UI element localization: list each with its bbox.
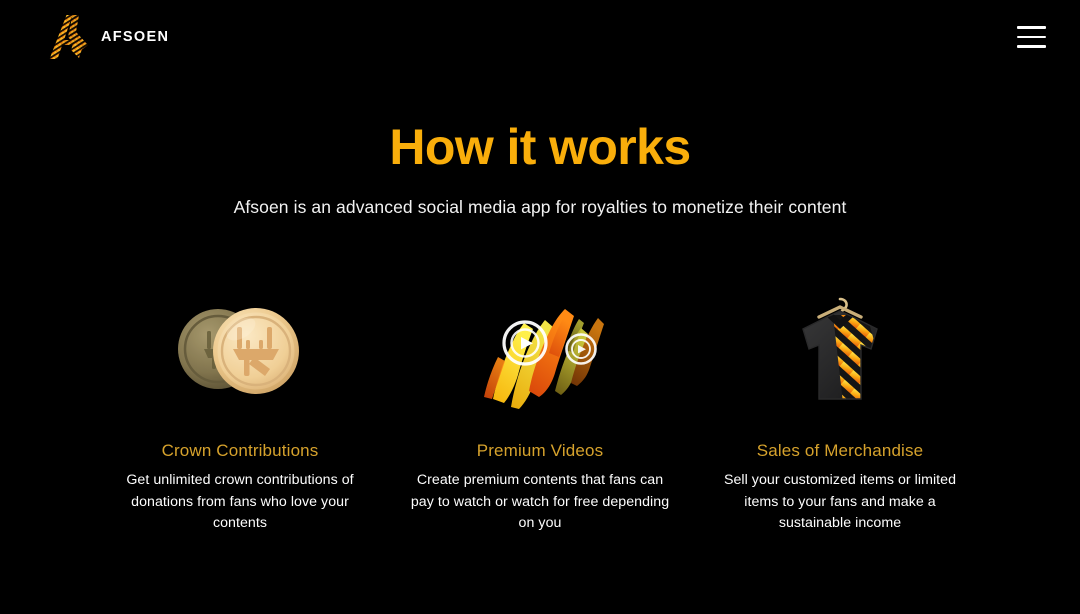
feature-card-text: Sell your customized items or limited it… — [709, 470, 971, 535]
site-header: AFSOEN — [0, 0, 1080, 74]
feature-card-crown-contributions[interactable]: Crown Contributions Get unlimited crown … — [90, 280, 390, 535]
feature-card-text: Get unlimited crown contributions of don… — [109, 470, 371, 535]
stacked-coins-icon — [165, 280, 315, 420]
menu-bar-top — [1017, 26, 1046, 29]
feature-card-title: Sales of Merchandise — [757, 441, 923, 461]
hero-section: How it works Afsoen is an advanced socia… — [0, 118, 1080, 218]
striped-tshirt-hanger-icon — [765, 280, 915, 420]
page-title: How it works — [0, 118, 1080, 177]
menu-bar-bottom — [1017, 45, 1046, 48]
feature-card-premium-videos[interactable]: Premium Videos Create premium contents t… — [390, 280, 690, 535]
brand-logo-link[interactable]: AFSOEN — [46, 12, 169, 62]
page-root: AFSOEN How it works Afsoen is an advance… — [0, 0, 1080, 614]
menu-bar-middle — [1017, 36, 1046, 39]
feature-card-title: Crown Contributions — [162, 441, 319, 461]
feature-card-text: Create premium contents that fans can pa… — [409, 470, 671, 535]
feature-card-sales-of-merchandise[interactable]: Sales of Merchandise Sell your customize… — [690, 280, 990, 535]
hamburger-menu-icon[interactable] — [1010, 22, 1046, 52]
feature-cards: Crown Contributions Get unlimited crown … — [90, 280, 990, 535]
video-play-buttons-icon — [465, 280, 615, 420]
page-subtitle: Afsoen is an advanced social media app f… — [0, 197, 1080, 218]
afsoen-striped-a-logo-icon — [46, 12, 92, 62]
brand-name: AFSOEN — [101, 30, 169, 45]
feature-card-title: Premium Videos — [477, 441, 604, 461]
